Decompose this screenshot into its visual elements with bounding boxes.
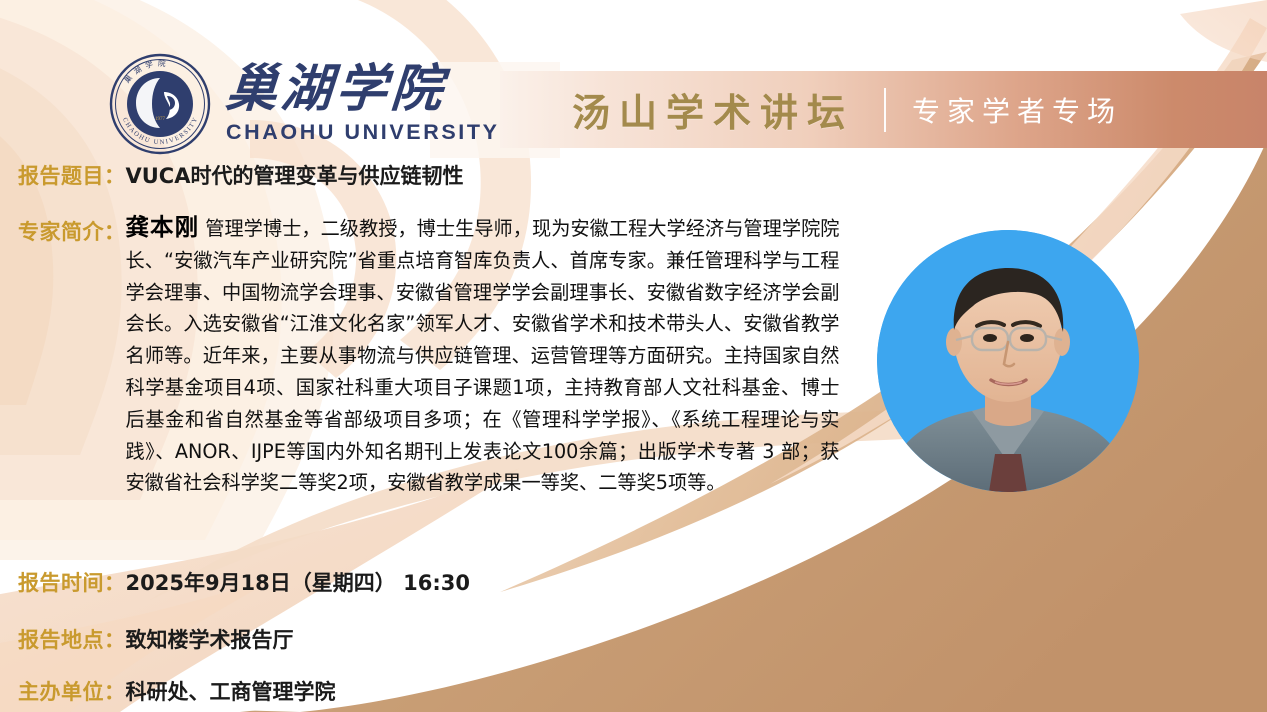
value-host-unit: 科研处、工商管理学院 [126,676,336,706]
wordmark-english: CHAOHU UNIVERSITY [226,120,500,145]
label-host-unit: 主办单位： [18,676,126,706]
field-time-row: 报告时间： 2025年9月18日（星期四） 16:30 [18,567,470,597]
banner-divider [884,88,886,132]
banner-subtitle: 专家学者专场 [912,90,1122,130]
value-report-title: VUCA时代的管理变革与供应链韧性 [126,160,464,190]
value-report-time: 2025年9月18日（星期四） 16:30 [126,567,470,597]
svg-text:1977: 1977 [155,117,166,122]
field-host-row: 主办单位： 科研处、工商管理学院 [18,676,336,706]
label-report-title: 报告题目： [18,160,126,190]
banner-main-title: 汤山学术讲坛 [572,82,854,137]
field-title-row: 报告题目： VUCA时代的管理变革与供应链韧性 [18,160,463,190]
label-report-place: 报告地点： [18,624,126,654]
speaker-bio-text: 管理学博士，二级教授，博士生导师，现为安徽工程大学经济与管理学院院长、“安徽汽车… [126,217,840,494]
wordmark-chinese: 巢湖学院 [224,63,448,115]
label-expert-bio: 专家简介： [18,212,126,246]
university-logo: 1977 巢 湖 学 院 CHAOHU UNIVERSITY 巢湖学院 CHAO… [108,52,500,156]
label-report-time: 报告时间： [18,567,126,597]
speaker-name: 龚本刚 [126,213,200,241]
poster-canvas: 1977 巢 湖 学 院 CHAOHU UNIVERSITY 巢湖学院 CHAO… [0,0,1267,712]
forum-banner: 汤山学术讲坛 专家学者专场 [500,71,1267,148]
university-wordmark: 巢湖学院 CHAOHU UNIVERSITY [226,63,500,144]
value-report-place: 致知楼学术报告厅 [126,624,294,654]
field-place-row: 报告地点： 致知楼学术报告厅 [18,624,294,654]
university-seal-icon: 1977 巢 湖 学 院 CHAOHU UNIVERSITY [108,52,212,156]
speaker-portrait [877,230,1139,492]
value-expert-bio: 龚本刚 管理学博士，二级教授，博士生导师，现为安徽工程大学经济与管理学院院长、“… [126,212,840,499]
field-bio-row: 专家简介： 龚本刚 管理学博士，二级教授，博士生导师，现为安徽工程大学经济与管理… [18,212,878,499]
